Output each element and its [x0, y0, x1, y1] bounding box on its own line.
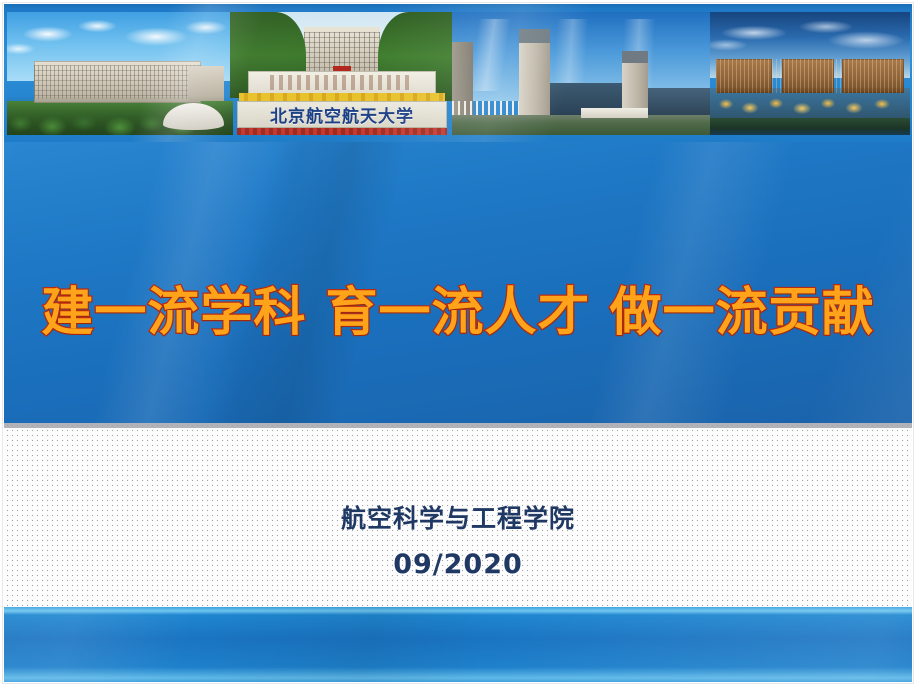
- body-panel: 航空科学与工程学院 09/2020: [0, 423, 916, 607]
- pillar-cap: [519, 29, 550, 43]
- building-window-grid: [34, 65, 201, 99]
- gate-name-plate: [581, 108, 648, 118]
- golden-landscape-lights: [710, 88, 910, 120]
- university-name-text: 北京航空航天大学: [237, 101, 448, 128]
- presentation-date: 09/2020: [0, 549, 916, 580]
- waterfront-foreground: [710, 118, 910, 135]
- inscription-small-text: [270, 75, 413, 90]
- photo-beihang-gate-sign: 北京航空航天大学: [230, 12, 454, 135]
- red-flower-base: [237, 128, 448, 135]
- footer-diagonal-sheen: [0, 607, 916, 686]
- page-title: 建一流学科 育一流人才 做一流贡献: [0, 270, 916, 345]
- body-panel-top-band: [0, 423, 916, 428]
- background-building-right: [648, 88, 710, 115]
- presentation-slide: 北京航空航天大学: [0, 0, 916, 686]
- photo-modern-stone-gate: [452, 12, 710, 135]
- title-panel: 建一流学科 育一流人才 做一流贡献: [0, 142, 916, 423]
- plaza-lawn: [452, 115, 710, 135]
- strip-top-accent: [0, 0, 916, 9]
- cirrus-clouds: [452, 19, 710, 90]
- footer-band: [0, 607, 916, 686]
- pillar-cap: [622, 51, 648, 63]
- photo-campus-dusk: [710, 12, 910, 135]
- school-name: 航空科学与工程学院: [0, 499, 916, 535]
- header-photo-strip: 北京航空航天大学: [0, 0, 916, 142]
- photo-campus-academic-building: [7, 12, 233, 135]
- gate-pillar-tall: [519, 29, 550, 118]
